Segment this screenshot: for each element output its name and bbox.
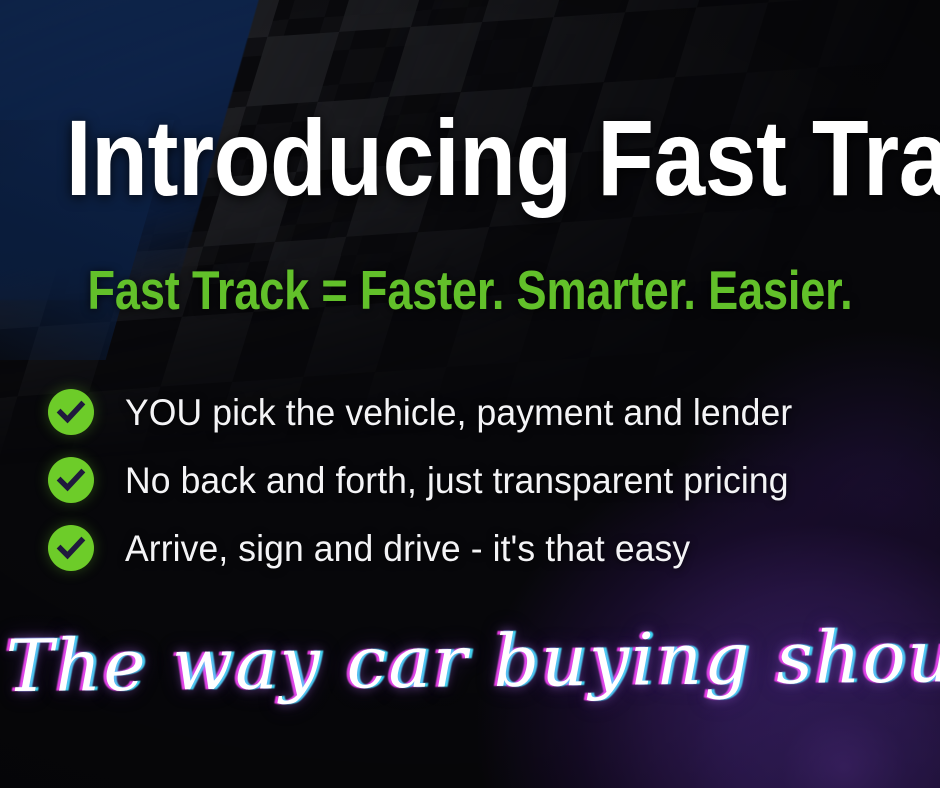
benefits-list: YOU pick the vehicle, payment and lender… [48,378,908,582]
list-item-label: YOU pick the vehicle, payment and lender [125,394,792,431]
check-circle-icon [48,457,94,503]
subtitle: Fast Track = Faster. Smarter. Easier. [85,263,856,318]
list-item: Arrive, sign and drive - it's that easy [48,514,908,582]
list-item-label: No back and forth, just transparent pric… [125,462,789,499]
script-tagline: The way car buying should be. The way ca… [5,606,940,715]
check-circle-icon [48,525,94,571]
tagline-text: The way car buying should be. [5,612,940,708]
tagline-container: The way car buying should be. The way ca… [0,612,940,722]
page-title: Introducing Fast Track [66,104,874,212]
list-item: YOU pick the vehicle, payment and lender [48,378,908,446]
list-item: No back and forth, just transparent pric… [48,446,908,514]
poster-content: Introducing Fast Track Fast Track = Fast… [0,0,940,788]
promo-poster: Introducing Fast Track Fast Track = Fast… [0,0,940,788]
check-circle-icon [48,389,94,435]
list-item-label: Arrive, sign and drive - it's that easy [125,530,690,567]
